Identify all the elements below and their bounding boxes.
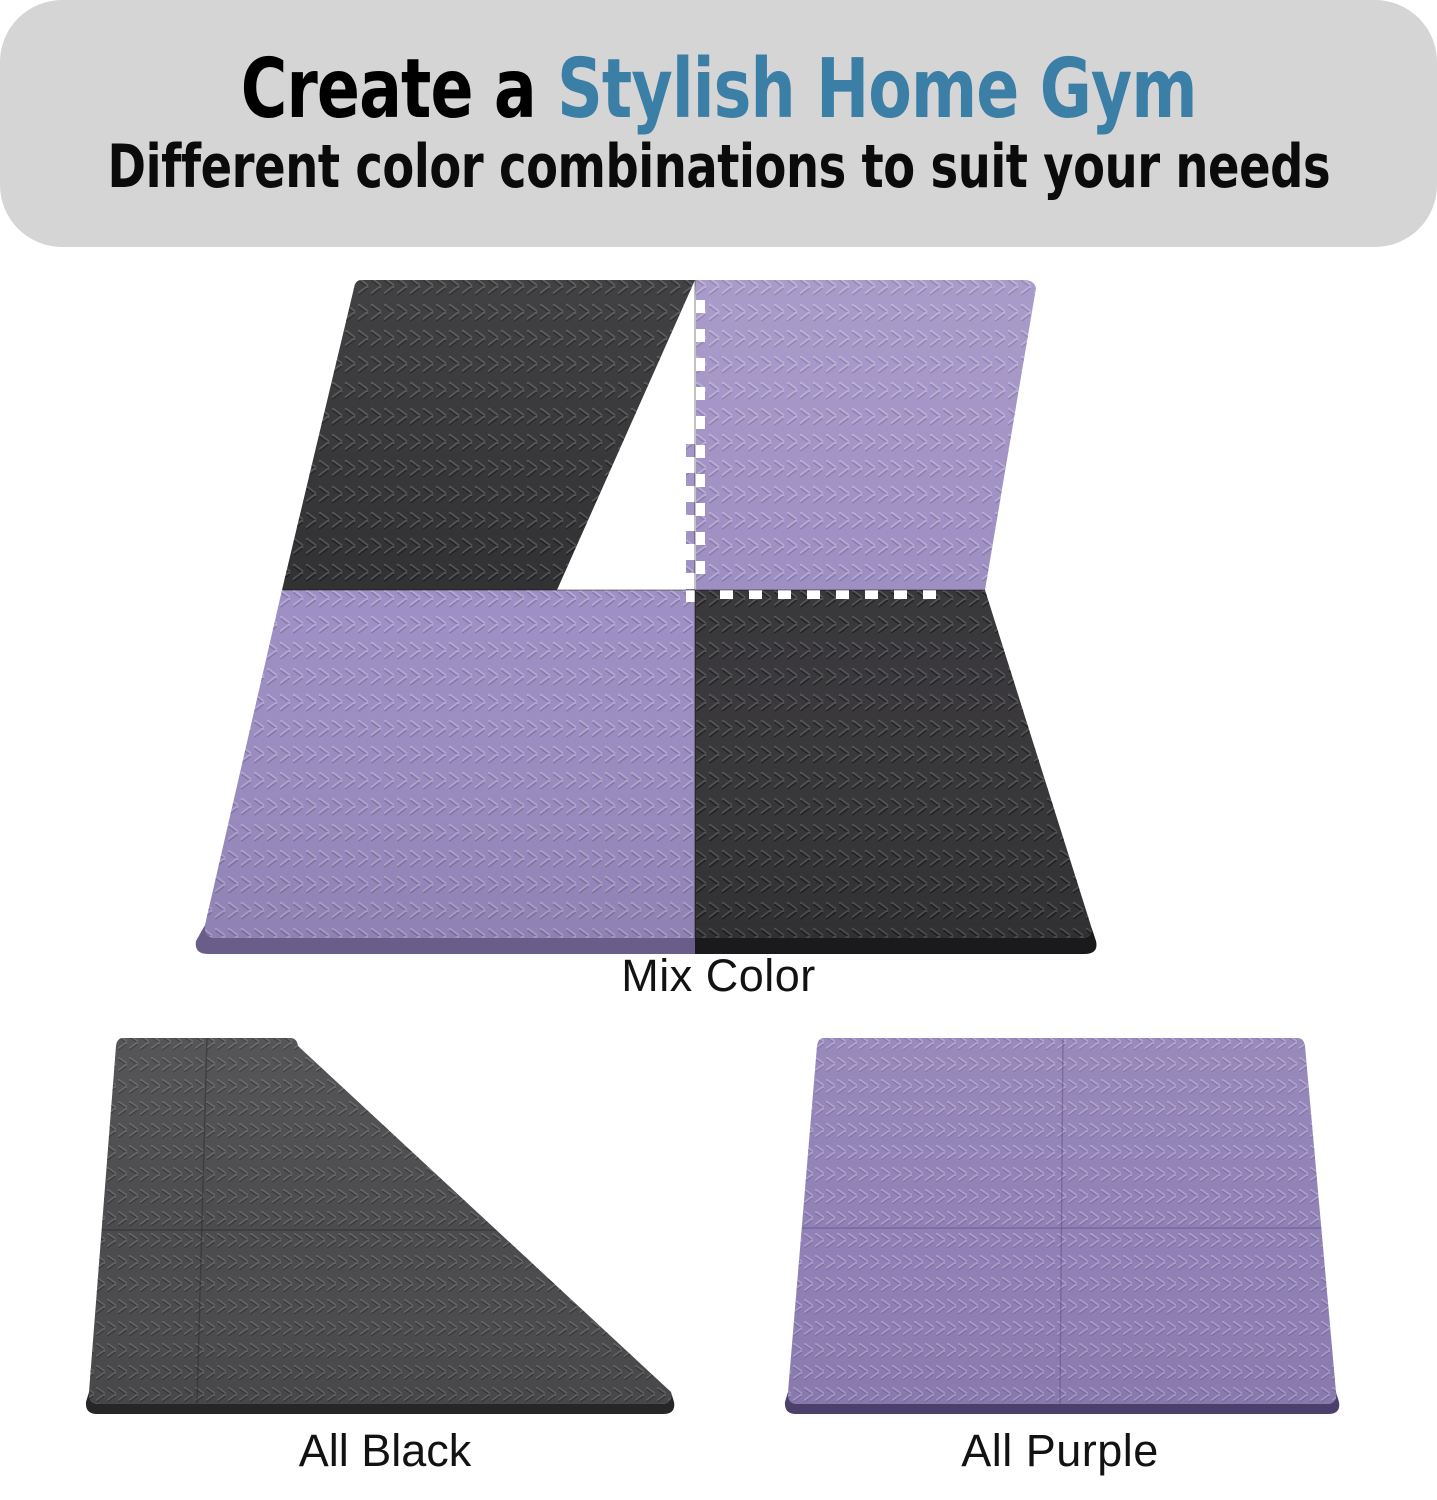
mix-color-figure: Mix Color <box>0 250 1437 1010</box>
all-purple-label: All Purple <box>760 1425 1360 1477</box>
all-purple-mat-svg <box>760 1020 1360 1420</box>
mix-color-mat-image <box>150 260 1160 950</box>
variant-all-purple: All Purple <box>760 1020 1360 1500</box>
all-black-label: All Black <box>85 1425 685 1477</box>
page-subtitle: Different color combinations to suit you… <box>107 137 1330 197</box>
page-title: Create a Stylish Home Gym <box>241 50 1197 130</box>
variant-row: All Black <box>0 1020 1437 1500</box>
headline-text-accent: Stylish Home Gym <box>557 42 1197 137</box>
mix-color-mat-svg <box>150 260 1160 960</box>
variant-all-black: All Black <box>85 1020 685 1500</box>
header-banner: Create a Stylish Home Gym Different colo… <box>0 0 1437 247</box>
all-black-mat-svg <box>85 1020 685 1420</box>
headline-text-plain: Create a <box>241 42 557 137</box>
mix-color-label: Mix Color <box>0 950 1437 1002</box>
